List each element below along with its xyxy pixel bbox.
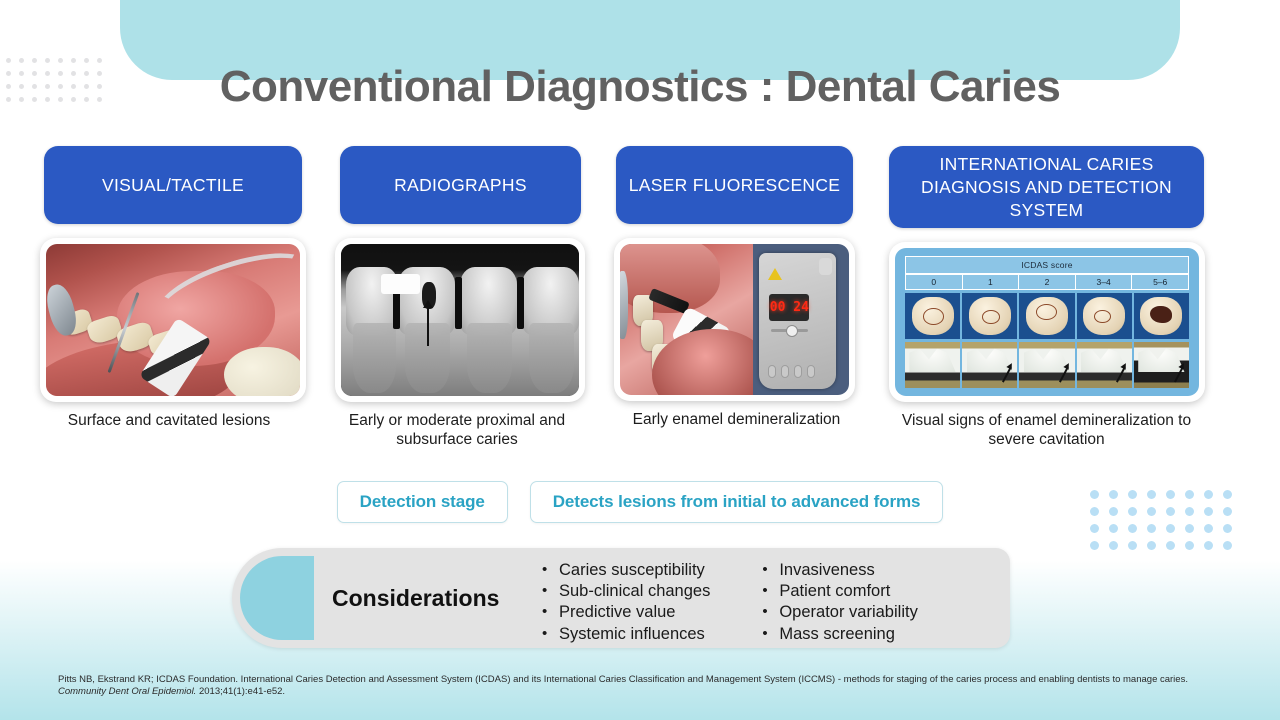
icdas-score-header-row: 0 1 2 3–4 5–6 bbox=[905, 274, 1189, 290]
list-item: Operator variability bbox=[762, 602, 917, 623]
detection-stage-value[interactable]: Detects lesions from initial to advanced… bbox=[530, 481, 944, 523]
considerations-list-left: Caries susceptibility Sub-clinical chang… bbox=[542, 560, 710, 645]
citation-text: Pitts NB, Ekstrand KR; ICDAS Foundation.… bbox=[58, 674, 1226, 699]
list-item: Mass screening bbox=[762, 624, 917, 645]
caption-icdas: Visual signs of enamel demineralization … bbox=[889, 411, 1204, 449]
considerations-list-right: Invasiveness Patient comfort Operator va… bbox=[762, 560, 917, 645]
icdas-score-chart: ICDAS score 0 1 2 3–4 5–6 bbox=[895, 248, 1199, 396]
icdas-score-5-6: 5–6 bbox=[1132, 274, 1189, 290]
column-radiographs: RADIOGRAPHS bbox=[340, 146, 581, 449]
laser-fluorescence-image-icon: 00 24 bbox=[620, 244, 849, 395]
list-item: Systemic influences bbox=[542, 624, 710, 645]
icdas-cell-section-2 bbox=[1019, 342, 1074, 388]
citation-journal: Community Dent Oral Epidemiol. bbox=[58, 686, 196, 697]
considerations-lists: Caries susceptibility Sub-clinical chang… bbox=[542, 560, 918, 645]
icdas-cell-occlusal-5-6 bbox=[1134, 293, 1189, 339]
icdas-section-photo-row bbox=[905, 342, 1189, 388]
icdas-cell-section-5-6 bbox=[1134, 342, 1189, 388]
laser-warning-icon bbox=[768, 268, 782, 280]
icdas-cell-section-1 bbox=[962, 342, 1017, 388]
list-item: Predictive value bbox=[542, 602, 710, 623]
photo-frame-radiographs bbox=[335, 238, 585, 402]
icdas-occlusal-photo-row bbox=[905, 293, 1189, 339]
lesion-arrow-icon bbox=[427, 306, 429, 346]
icdas-cell-occlusal-0 bbox=[905, 293, 960, 339]
photo-frame-icdas: ICDAS score 0 1 2 3–4 5–6 bbox=[889, 242, 1205, 402]
column-icdas: INTERNATIONAL CARIES DIAGNOSIS AND DETEC… bbox=[889, 146, 1204, 449]
caption-laser-fluorescence: Early enamel demineralization bbox=[616, 410, 857, 429]
list-item: Invasiveness bbox=[762, 560, 917, 581]
laser-device-body: 00 24 bbox=[759, 253, 836, 389]
category-box-icdas[interactable]: INTERNATIONAL CARIES DIAGNOSIS AND DETEC… bbox=[889, 146, 1204, 228]
category-box-radiographs[interactable]: RADIOGRAPHS bbox=[340, 146, 581, 224]
icdas-cell-occlusal-3-4 bbox=[1077, 293, 1132, 339]
considerations-accent-shape bbox=[240, 556, 314, 640]
caption-radiographs: Early or moderate proximal and subsurfac… bbox=[332, 411, 582, 449]
list-item: Caries susceptibility bbox=[542, 560, 710, 581]
citation-part-1: Pitts NB, Ekstrand KR; ICDAS Foundation.… bbox=[58, 674, 1188, 685]
radiograph-image-icon bbox=[341, 244, 579, 396]
icdas-cell-occlusal-2 bbox=[1019, 293, 1074, 339]
photo-frame-visual-tactile bbox=[40, 238, 306, 402]
device-display: 00 24 bbox=[769, 294, 809, 321]
column-visual-tactile: VISUAL/TACTILE bbox=[44, 146, 302, 430]
device-reading: 00 24 bbox=[770, 301, 809, 314]
list-item: Sub-clinical changes bbox=[542, 581, 710, 602]
dental-mirror-icon bbox=[620, 271, 628, 339]
detection-stage-label[interactable]: Detection stage bbox=[337, 481, 508, 523]
photo-frame-laser-fluorescence: 00 24 bbox=[614, 238, 855, 401]
considerations-title: Considerations bbox=[332, 548, 499, 648]
icdas-score-3-4: 3–4 bbox=[1076, 274, 1133, 290]
detection-stage-row: Detection stage Detects lesions from ini… bbox=[0, 481, 1280, 523]
icdas-score-0: 0 bbox=[906, 274, 963, 290]
icdas-chart-title: ICDAS score bbox=[905, 256, 1189, 274]
considerations-section: Considerations Caries susceptibility Sub… bbox=[232, 548, 1010, 648]
icdas-score-1: 1 bbox=[963, 274, 1020, 290]
citation-part-2: 2013;41(1):e41-e52. bbox=[196, 686, 285, 697]
caption-visual-tactile: Surface and cavitated lesions bbox=[44, 411, 294, 430]
category-box-laser-fluorescence[interactable]: LASER FLUORESCENCE bbox=[616, 146, 853, 224]
icdas-cell-section-0 bbox=[905, 342, 960, 388]
column-laser-fluorescence: LASER FLUORESCENCE bbox=[616, 146, 853, 429]
diagnostics-columns: VISUAL/TACTILE bbox=[0, 146, 1280, 456]
slide-title: Conventional Diagnostics : Dental Caries bbox=[0, 62, 1280, 112]
icdas-cell-section-3-4 bbox=[1077, 342, 1132, 388]
icdas-score-2: 2 bbox=[1019, 274, 1076, 290]
icdas-cell-occlusal-1 bbox=[962, 293, 1017, 339]
list-item: Patient comfort bbox=[762, 581, 917, 602]
category-box-visual-tactile[interactable]: VISUAL/TACTILE bbox=[44, 146, 302, 224]
intraoral-photo-icon bbox=[46, 244, 300, 396]
